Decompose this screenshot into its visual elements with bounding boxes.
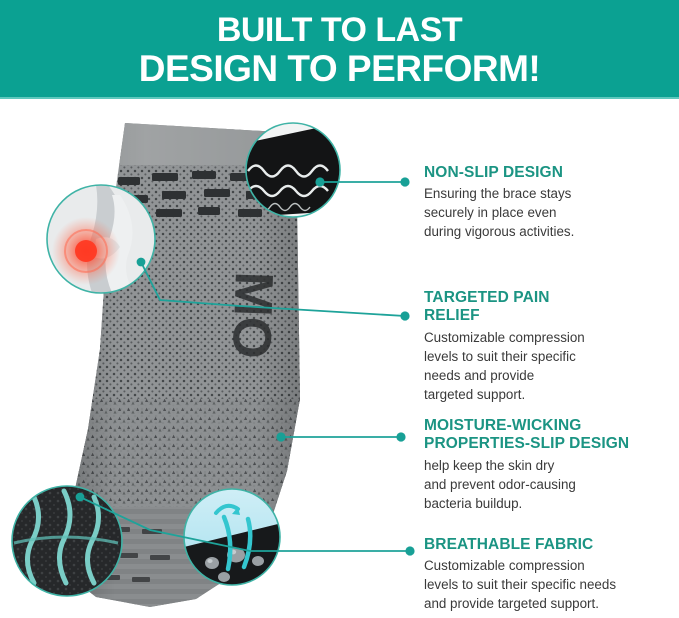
feature-body: help keep the skin dry and prevent odor-… xyxy=(424,456,676,513)
feature-targeted-pain-relief: TARGETED PAIN RELIEF Customizable compre… xyxy=(424,289,676,404)
feature-title: TARGETED PAIN RELIEF xyxy=(424,289,676,326)
feature-body: Ensuring the brace stays securely in pla… xyxy=(424,184,676,241)
feature-body: Customizable compression levels to suit … xyxy=(424,556,676,613)
callout-non-slip-grip xyxy=(246,123,340,217)
callout-targeted-pain xyxy=(47,185,155,293)
headline-line-1: BUILT TO LAST xyxy=(217,13,462,48)
headline-line-2: DESIGN TO PERFORM! xyxy=(139,50,540,88)
feature-non-slip-design: NON-SLIP DESIGN Ensuring the brace stays… xyxy=(424,164,676,241)
callout-moisture-wicking xyxy=(184,489,282,587)
feature-moisture-wicking: MOISTURE-WICKING PROPERTIES-SLIP DESIGN … xyxy=(424,417,676,513)
knee-brace-illustration: MO xyxy=(0,99,420,618)
infographic-page: BUILT TO LAST DESIGN TO PERFORM! xyxy=(0,0,679,618)
feature-body: Customizable compression levels to suit … xyxy=(424,328,676,404)
feature-breathable-fabric: BREATHABLE FABRIC Customizable compressi… xyxy=(424,536,676,613)
feature-title: BREATHABLE FABRIC xyxy=(424,536,676,554)
header-banner: BUILT TO LAST DESIGN TO PERFORM! xyxy=(0,0,679,99)
feature-title: NON-SLIP DESIGN xyxy=(424,164,676,182)
feature-title: MOISTURE-WICKING PROPERTIES-SLIP DESIGN xyxy=(424,417,676,454)
feature-list: NON-SLIP DESIGN Ensuring the brace stays… xyxy=(424,99,674,618)
callout-breathable-fabric xyxy=(12,486,122,596)
product-image: MO xyxy=(0,99,420,618)
